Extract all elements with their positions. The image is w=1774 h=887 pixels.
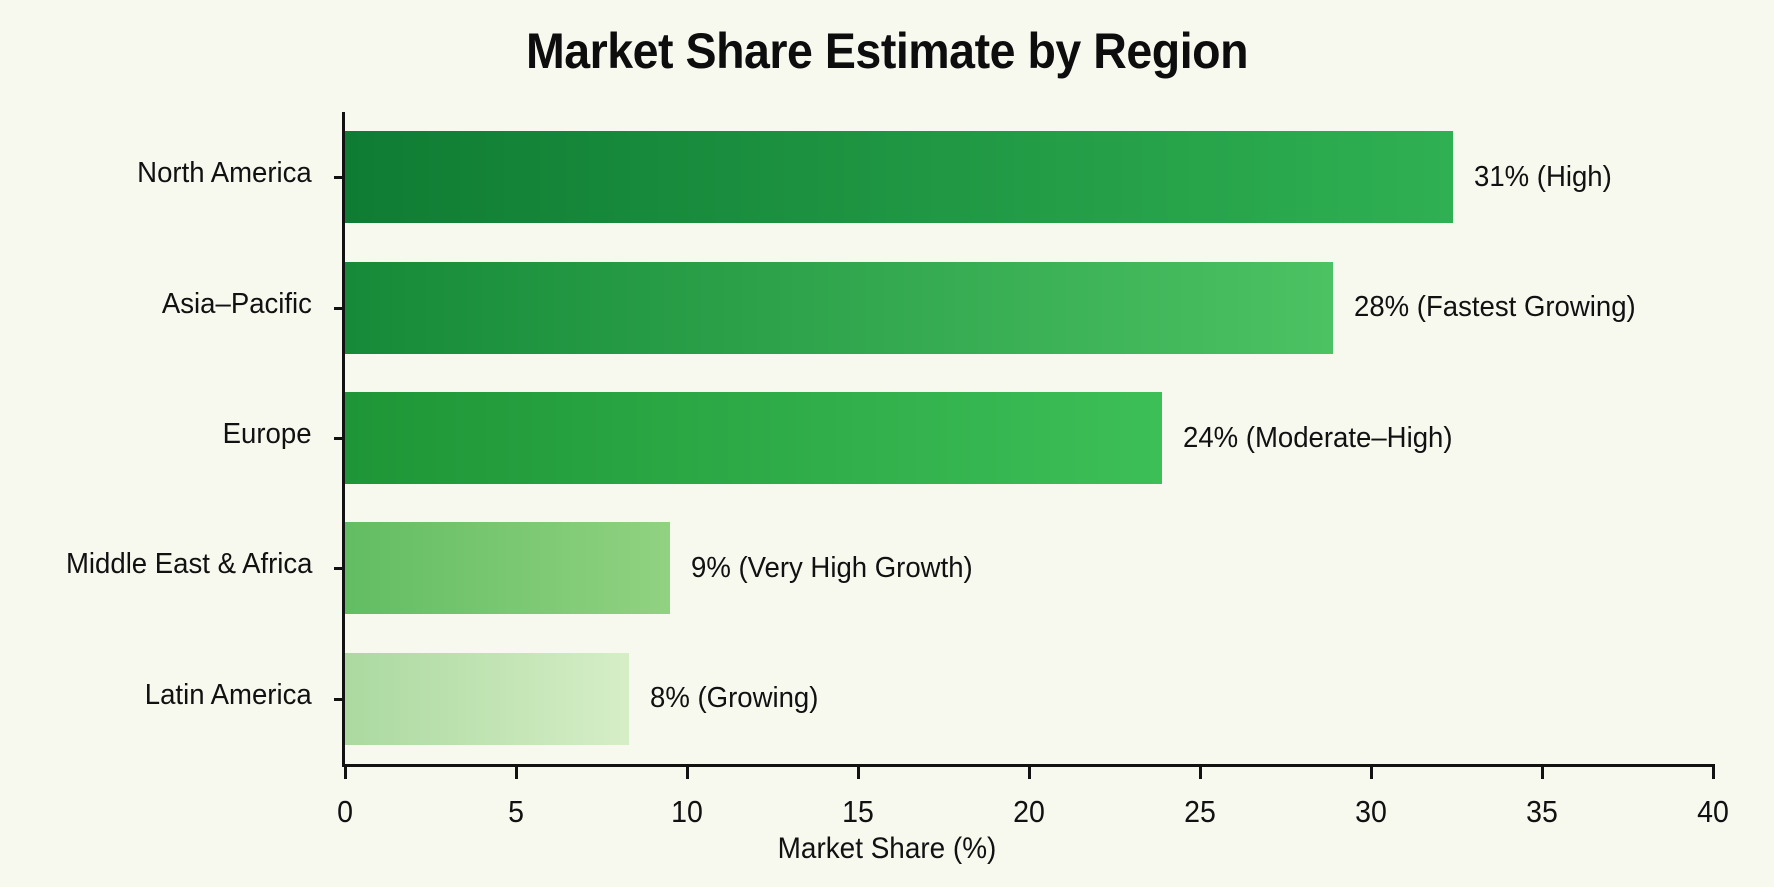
y-axis-tick (334, 176, 345, 179)
bar-data-label: 31% (High) (1474, 161, 1612, 194)
x-axis-tick-label: 10 (671, 794, 703, 830)
y-axis-tick (334, 567, 345, 570)
x-axis-tick-label: 20 (1013, 794, 1045, 830)
x-axis-tick (515, 764, 518, 779)
y-axis-category-labels: North AmericaAsia–PacificEuropeMiddle Ea… (0, 112, 330, 764)
y-axis-label-asia-pacific: Asia–Pacific (162, 288, 312, 321)
x-axis-tick-label: 35 (1526, 794, 1558, 830)
y-axis-tick (334, 698, 345, 701)
x-axis-tick-label: 40 (1697, 794, 1729, 830)
x-axis-tick (1199, 764, 1202, 779)
bar-row: 8% (Growing) (345, 653, 827, 745)
bar-row: 31% (High) (345, 131, 1619, 223)
bar-north-america[interactable] (345, 131, 1453, 223)
y-axis-label-north-america: North America (137, 157, 312, 190)
x-axis-tick-label: 15 (842, 794, 874, 830)
x-axis-tick-label: 25 (1184, 794, 1216, 830)
x-axis-tick-label: 0 (337, 794, 353, 830)
bar-europe[interactable] (345, 392, 1162, 484)
bar-middle-east-africa[interactable] (345, 522, 670, 614)
bar-row: 28% (Fastest Growing) (345, 262, 1651, 354)
chart-title: Market Share Estimate by Region (62, 22, 1712, 80)
bar-data-label: 8% (Growing) (650, 682, 818, 715)
bar-asia-pacific[interactable] (345, 262, 1333, 354)
x-axis-tick (1541, 764, 1544, 779)
bar-data-label: 24% (Moderate–High) (1183, 422, 1453, 455)
y-axis-label-europe: Europe (223, 418, 312, 451)
x-axis-title: Market Share (%) (62, 832, 1712, 866)
x-axis-tick (344, 764, 347, 779)
x-axis-tick-label: 30 (1355, 794, 1387, 830)
bar-row: 24% (Moderate–High) (345, 392, 1467, 484)
plot-area: 31% (High)28% (Fastest Growing)24% (Mode… (345, 112, 1713, 764)
x-axis-tick (1712, 764, 1715, 779)
chart-container: Market Share Estimate by Region North Am… (0, 0, 1774, 887)
y-axis-label-latin-america: Latin America (145, 679, 312, 712)
y-axis-tick (334, 307, 345, 310)
bar-latin-america[interactable] (345, 653, 629, 745)
bar-data-label: 9% (Very High Growth) (691, 552, 973, 585)
x-axis-tick (1028, 764, 1031, 779)
y-axis-label-middle-east-africa: Middle East & Africa (65, 548, 312, 581)
x-axis-tick (1370, 764, 1373, 779)
x-axis-tick (686, 764, 689, 779)
y-axis-tick (334, 437, 345, 440)
x-axis-tick (857, 764, 860, 779)
bar-row: 9% (Very High Growth) (345, 522, 987, 614)
x-axis-tick-label: 5 (508, 794, 524, 830)
bar-data-label: 28% (Fastest Growing) (1354, 291, 1636, 324)
